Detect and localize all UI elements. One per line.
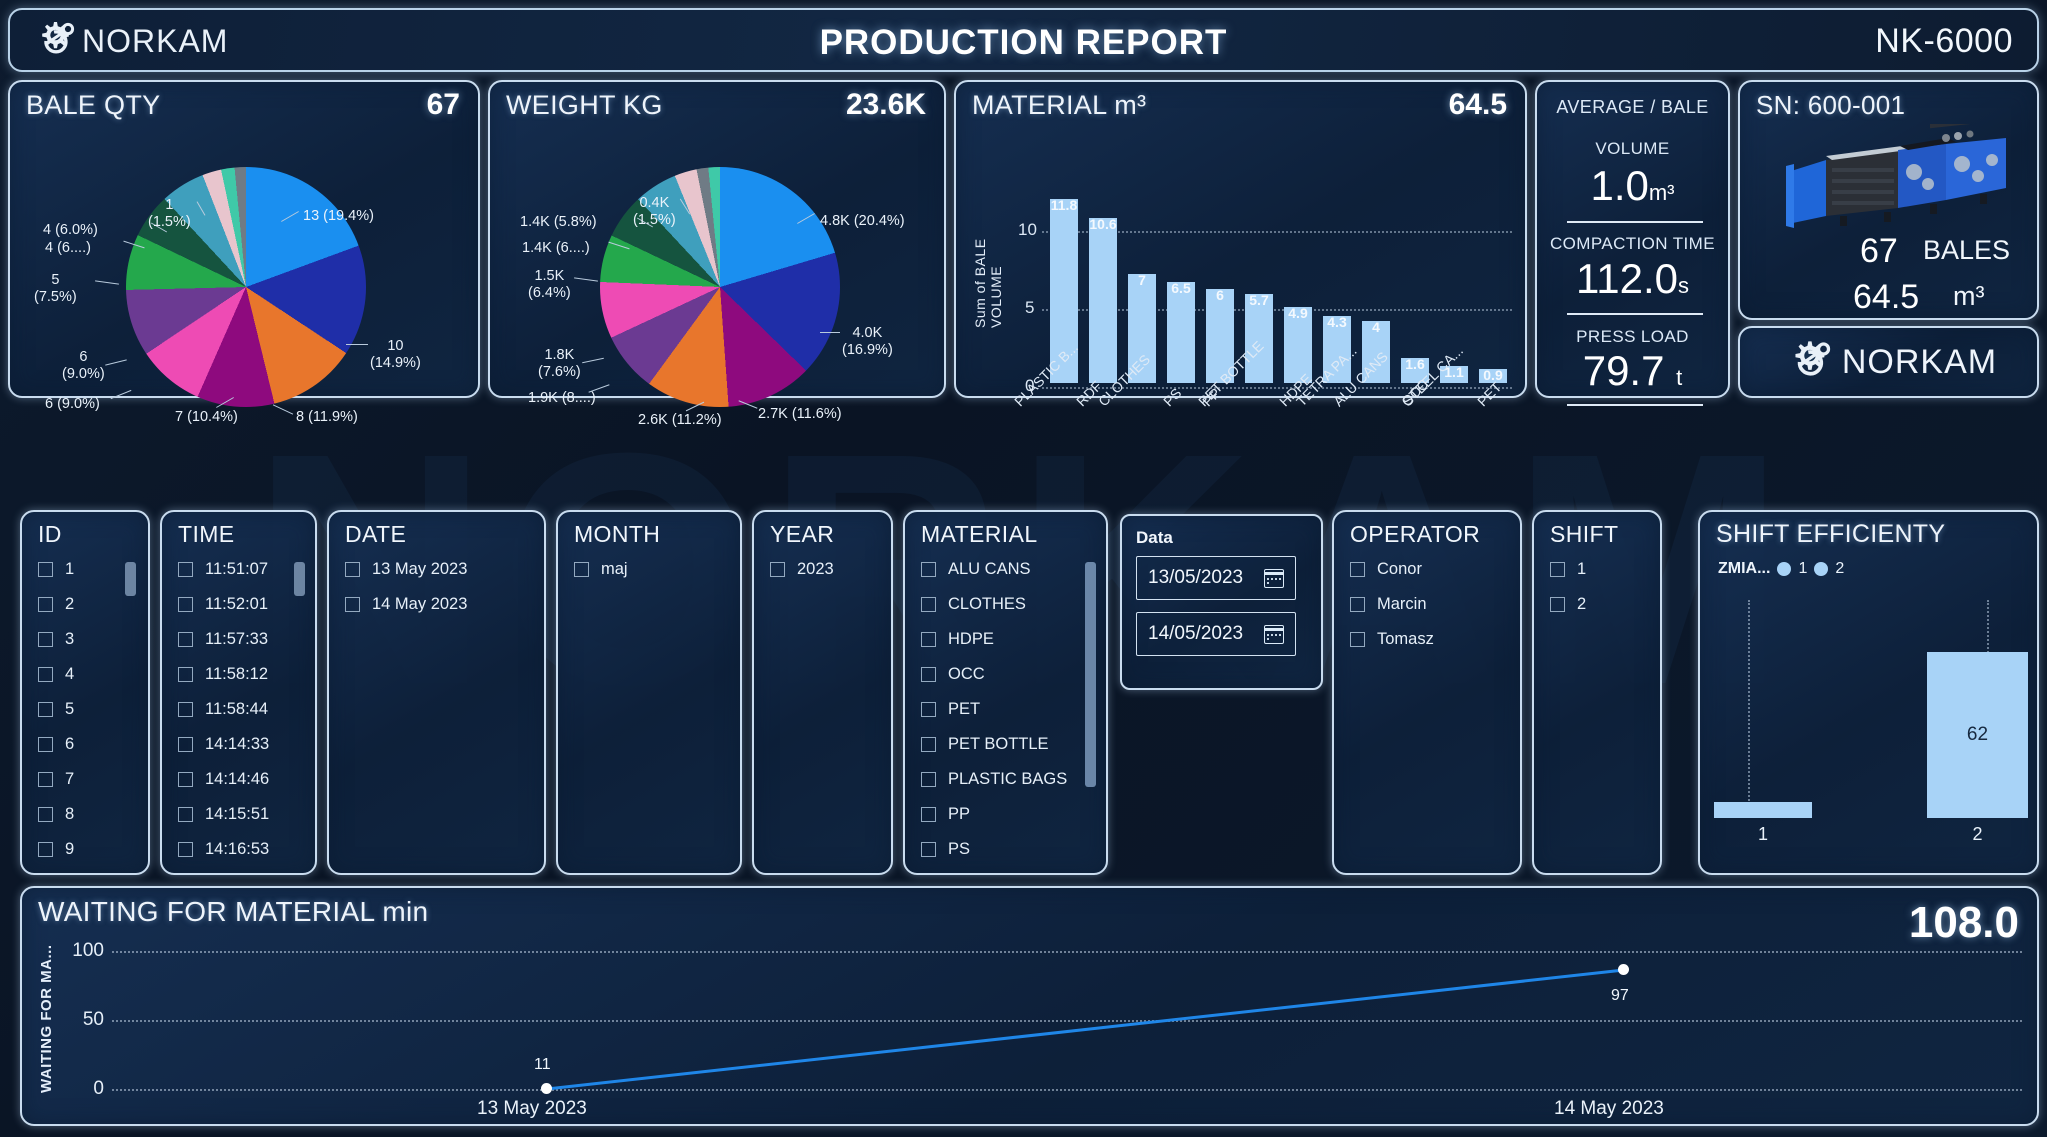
slicer-shift-option[interactable]: 1 — [1550, 560, 1586, 579]
shift-legend-label: ZMIA... — [1718, 560, 1770, 578]
y-tick: 50 — [60, 1009, 104, 1031]
checkbox[interactable] — [921, 772, 936, 787]
pie-slice-label: 1 (1.5%) — [148, 197, 191, 230]
slicer-month-title: MONTH — [574, 521, 660, 548]
checkbox[interactable] — [345, 597, 360, 612]
pie-slice-label: 4 (6....) — [45, 240, 91, 257]
slicer-material-option[interactable]: PLASTIC BAGS — [921, 770, 1067, 789]
slicer-id-option[interactable]: 5 — [38, 700, 74, 719]
checkbox[interactable] — [178, 807, 193, 822]
bar-value: 6.5 — [1163, 280, 1199, 296]
average-per-bale-panel: AVERAGE / BALE VOLUME 1.0m³ COMPACTION T… — [1535, 80, 1730, 398]
compaction-unit: s — [1678, 273, 1689, 298]
checkbox[interactable] — [38, 562, 53, 577]
slicer-material-option[interactable]: PET BOTTLE — [921, 735, 1049, 754]
pie-slice-label: 4.0K (16.9%) — [842, 325, 893, 358]
legend-item: 1 — [1798, 560, 1807, 578]
brand-panel-name: NORKAM — [1842, 343, 1997, 382]
slicer-id-option[interactable]: 7 — [38, 770, 74, 789]
machine-volume-unit: m³ — [1953, 281, 1984, 312]
weight-kg-panel: WEIGHT KG 23.6K 4.8K (20.4%) 4.0K (16.9%… — [488, 80, 946, 398]
bales-count: 67 — [1860, 232, 1898, 271]
slicer-material-option[interactable]: PS — [921, 840, 970, 859]
volume-value: 1.0m³ — [1537, 162, 1728, 210]
checkbox[interactable] — [178, 772, 193, 787]
compaction-value: 112.0s — [1537, 255, 1728, 303]
slicer-id-scrollbar[interactable] — [125, 562, 136, 596]
slicer-id-option[interactable]: 8 — [38, 805, 74, 824]
pie-slice-label: 13 (19.4%) — [303, 208, 374, 225]
bar-value: 4 — [1358, 319, 1394, 335]
pie-slice-label: 1.4K (5.8%) — [520, 214, 597, 231]
pie-slice-label: 1.4K (6....) — [522, 240, 590, 257]
slicer-month-option[interactable]: maj — [574, 560, 628, 579]
material-volume-panel: MATERIAL m³ 64.5 Sum of BALE VOLUME 10 5… — [954, 80, 1527, 398]
checkbox[interactable] — [38, 807, 53, 822]
slicer-shift-option[interactable]: 2 — [1550, 595, 1586, 614]
baler-machine-image — [1780, 124, 2020, 239]
pie-slice-label: 5 (7.5%) — [34, 272, 77, 305]
weight-kg-value: 23.6K — [846, 88, 926, 122]
gear-logo-icon — [1780, 337, 1838, 387]
pie-slice-label: 2.6K (11.2%) — [638, 412, 722, 429]
slicer-time-option[interactable]: 11:58:44 — [178, 700, 268, 719]
compaction-label: COMPACTION TIME — [1537, 234, 1728, 254]
slicer-id-option[interactable]: 2 — [38, 595, 74, 614]
bar[interactable] — [1089, 218, 1117, 383]
slicer-date-title: DATE — [345, 521, 406, 548]
slicer-date: DATE 13 May 2023 14 May 2023 — [327, 510, 546, 875]
slicer-id-option[interactable]: 3 — [38, 630, 74, 649]
slicer-month: MONTH maj — [556, 510, 742, 875]
slicer-id-title: ID — [38, 521, 62, 548]
volume-number: 1.0 — [1590, 162, 1648, 209]
bar-value: 4.9 — [1280, 305, 1316, 321]
checkbox[interactable] — [38, 842, 53, 857]
pie-slice-label: 4.8K (20.4%) — [820, 213, 905, 230]
app-header: NORKAM PRODUCTION REPORT NK-6000 — [8, 8, 2039, 72]
slicer-material: MATERIAL ALU CANS CLOTHES HDPE OCC PET P… — [903, 510, 1108, 875]
date-filter-title: Data — [1136, 528, 1173, 548]
bales-label: BALES — [1923, 235, 2010, 266]
pie-slice-label: 1.5K (6.4%) — [528, 268, 571, 301]
slicer-time-option[interactable]: 11:58:12 — [178, 665, 268, 684]
checkbox[interactable] — [38, 702, 53, 717]
material-title: MATERIAL m³ — [972, 90, 1146, 121]
checkbox[interactable] — [178, 667, 193, 682]
serial-number: SN: 600-001 — [1756, 90, 1905, 121]
average-bale-title: AVERAGE / BALE — [1537, 97, 1728, 118]
checkbox[interactable] — [921, 842, 936, 857]
legend-item: 2 — [1835, 560, 1844, 578]
shift-efficiency-title: SHIFT EFFICIENTY — [1716, 520, 1945, 549]
checkbox[interactable] — [38, 737, 53, 752]
slicer-id: ID 1 2 3 4 5 6 7 8 9 — [20, 510, 150, 875]
checkbox[interactable] — [38, 597, 53, 612]
bar-value: 5.7 — [1241, 292, 1277, 308]
pie-slice-label: 1.8K (7.6%) — [538, 347, 581, 380]
volume-label: VOLUME — [1537, 139, 1728, 159]
shift-bar[interactable] — [1714, 802, 1812, 818]
slicer-material-option[interactable]: ALU CANS — [921, 560, 1031, 579]
pie-slice-label: 4 (6.0%) — [43, 222, 98, 239]
checkbox[interactable] — [921, 562, 936, 577]
checkbox[interactable] — [38, 632, 53, 647]
slicer-time-option[interactable]: 11:52:01 — [178, 595, 268, 614]
checkbox[interactable] — [1550, 562, 1565, 577]
y-tick: 5 — [1025, 298, 1034, 318]
checkbox[interactable] — [38, 772, 53, 787]
date-range-filter: Data 13/05/2023 14/05/2023 — [1120, 514, 1323, 690]
date-from-input[interactable]: 13/05/2023 — [1136, 556, 1296, 600]
data-point-value: 11 — [534, 1056, 551, 1074]
checkbox[interactable] — [345, 562, 360, 577]
shift-x-label: 2 — [1927, 824, 2028, 845]
pie-slice-label: 6 (9.0%) — [62, 349, 105, 382]
slicer-time-option[interactable]: 14:15:51 — [178, 805, 269, 824]
compaction-number: 112.0 — [1576, 255, 1678, 302]
checkbox[interactable] — [38, 667, 53, 682]
date-to-value: 14/05/2023 — [1148, 623, 1243, 645]
shift-x-label: 1 — [1714, 824, 1812, 845]
slicer-year: YEAR 2023 — [752, 510, 893, 875]
checkbox[interactable] — [178, 632, 193, 647]
slicer-material-option[interactable]: HDPE — [921, 630, 994, 649]
slicer-year-title: YEAR — [770, 521, 834, 548]
slicer-time-option[interactable]: 11:51:07 — [178, 560, 268, 579]
shift-bar-value: 62 — [1927, 724, 2028, 746]
material-value: 64.5 — [1449, 88, 1507, 122]
slicer-operator: OPERATOR Conor Marcin Tomasz — [1332, 510, 1522, 875]
bar-value: 7 — [1124, 272, 1160, 288]
checkbox[interactable] — [770, 562, 785, 577]
slicer-operator-title: OPERATOR — [1350, 521, 1480, 548]
checkbox[interactable] — [921, 807, 936, 822]
waiting-y-axis-title: WAITING FOR MA... — [38, 943, 55, 1093]
pie-slice-label: 6 (9.0%) — [45, 396, 100, 413]
waiting-for-material-panel: WAITING FOR MATERIAL min 108.0 WAITING F… — [20, 886, 2039, 1126]
date-from-value: 13/05/2023 — [1148, 567, 1243, 589]
checkbox[interactable] — [921, 737, 936, 752]
slicer-time-title: TIME — [178, 521, 235, 548]
checkbox[interactable] — [921, 667, 936, 682]
slicer-shift: SHIFT 1 2 — [1532, 510, 1662, 875]
volume-unit: m³ — [1649, 180, 1675, 205]
slicer-material-title: MATERIAL — [921, 521, 1038, 548]
brand-panel: NORKAM — [1738, 326, 2039, 398]
bar-value: 6 — [1202, 287, 1238, 303]
bar-value: 11.8 — [1046, 197, 1082, 213]
checkbox[interactable] — [1350, 562, 1365, 577]
legend-swatch — [1777, 562, 1791, 576]
calendar-icon[interactable] — [1264, 569, 1284, 588]
slicer-date-option[interactable]: 13 May 2023 — [345, 560, 467, 579]
checkbox[interactable] — [178, 842, 193, 857]
slicer-operator-option[interactable]: Tomasz — [1350, 630, 1434, 649]
press-load-value: 79.7 t — [1537, 347, 1728, 395]
slicer-time-option[interactable]: 14:14:33 — [178, 735, 269, 754]
press-load-label: PRESS LOAD — [1537, 327, 1728, 347]
slicer-material-option[interactable]: PET — [921, 700, 980, 719]
checkbox[interactable] — [178, 737, 193, 752]
weight-kg-title: WEIGHT KG — [506, 90, 663, 121]
machine-panel: SN: 600-001 — [1738, 80, 2039, 320]
pie-slice-label: 0.4K (1.5%) — [633, 195, 676, 228]
pie-slice-label: 10 (14.9%) — [370, 338, 421, 371]
checkbox[interactable] — [921, 597, 936, 612]
material-y-axis-title: Sum of BALE VOLUME — [972, 178, 1004, 328]
slicer-year-option[interactable]: 2023 — [770, 560, 834, 579]
slicer-material-option[interactable]: CLOTHES — [921, 595, 1026, 614]
checkbox[interactable] — [178, 597, 193, 612]
slicer-id-option[interactable]: 6 — [38, 735, 74, 754]
data-point-value: 97 — [1611, 987, 1629, 1005]
slicer-material-scrollbar[interactable] — [1085, 562, 1096, 787]
pie-slice-label: 2.7K (11.6%) — [758, 406, 842, 423]
checkbox[interactable] — [178, 702, 193, 717]
page-title: PRODUCTION REPORT — [10, 23, 2037, 63]
shift-efficiency-panel: SHIFT EFFICIENTY ZMIA... 1 2 62 1 2 — [1698, 510, 2039, 875]
slicer-material-option[interactable]: OCC — [921, 665, 985, 684]
slicer-time-option[interactable]: 14:14:46 — [178, 770, 269, 789]
checkbox[interactable] — [178, 562, 193, 577]
pie-slice-label: 8 (11.9%) — [296, 409, 358, 426]
slicer-time-option[interactable]: 14:16:53 — [178, 840, 269, 859]
bar-value: 10.6 — [1085, 216, 1121, 232]
checkbox[interactable] — [1350, 632, 1365, 647]
checkbox[interactable] — [1350, 597, 1365, 612]
bale-qty-value: 67 — [427, 88, 460, 122]
checkbox[interactable] — [921, 702, 936, 717]
slicer-time-option[interactable]: 11:57:33 — [178, 630, 268, 649]
machine-volume-value: 64.5 — [1853, 278, 1919, 317]
slicer-date-option[interactable]: 14 May 2023 — [345, 595, 467, 614]
bale-qty-panel: BALE QTY 67 13 (19.4%) 10 (14.9%) 8 (11.… — [8, 80, 480, 398]
bar-category-label: PET — [1474, 379, 1505, 410]
slicer-shift-title: SHIFT — [1550, 521, 1618, 548]
data-point[interactable] — [1618, 964, 1629, 975]
machine-model: NK-6000 — [1875, 22, 2013, 61]
press-number: 79.7 — [1583, 347, 1665, 394]
bar[interactable] — [1167, 282, 1195, 383]
slicer-time: TIME 11:51:07 11:52:01 11:57:33 11:58:12… — [160, 510, 317, 875]
checkbox[interactable] — [921, 632, 936, 647]
slicer-operator-option[interactable]: Marcin — [1350, 595, 1427, 614]
slicer-id-option[interactable]: 1 — [38, 560, 74, 579]
data-point[interactable] — [541, 1083, 552, 1094]
x-axis-label: 13 May 2023 — [477, 1098, 587, 1120]
y-tick: 0 — [60, 1078, 104, 1100]
y-tick: 10 — [1018, 220, 1037, 240]
checkbox[interactable] — [574, 562, 589, 577]
slicer-id-option[interactable]: 4 — [38, 665, 74, 684]
calendar-icon[interactable] — [1264, 625, 1284, 644]
y-tick: 100 — [60, 940, 104, 962]
pie-slice-label: 1.9K (8....) — [528, 390, 596, 407]
press-unit: t — [1676, 365, 1682, 390]
slicer-material-option[interactable]: PP — [921, 805, 970, 824]
date-to-input[interactable]: 14/05/2023 — [1136, 612, 1296, 656]
checkbox[interactable] — [1550, 597, 1565, 612]
x-axis-label: 14 May 2023 — [1554, 1098, 1664, 1120]
bale-qty-title: BALE QTY — [26, 90, 160, 121]
slicer-id-option[interactable]: 9 — [38, 840, 74, 859]
slicer-operator-option[interactable]: Conor — [1350, 560, 1422, 579]
waiting-line-series[interactable] — [112, 918, 2022, 1098]
slicer-time-scrollbar[interactable] — [294, 562, 305, 596]
pie-slice-label: 7 (10.4%) — [175, 409, 238, 426]
legend-swatch — [1814, 562, 1828, 576]
bar-value: 4.3 — [1319, 314, 1355, 330]
